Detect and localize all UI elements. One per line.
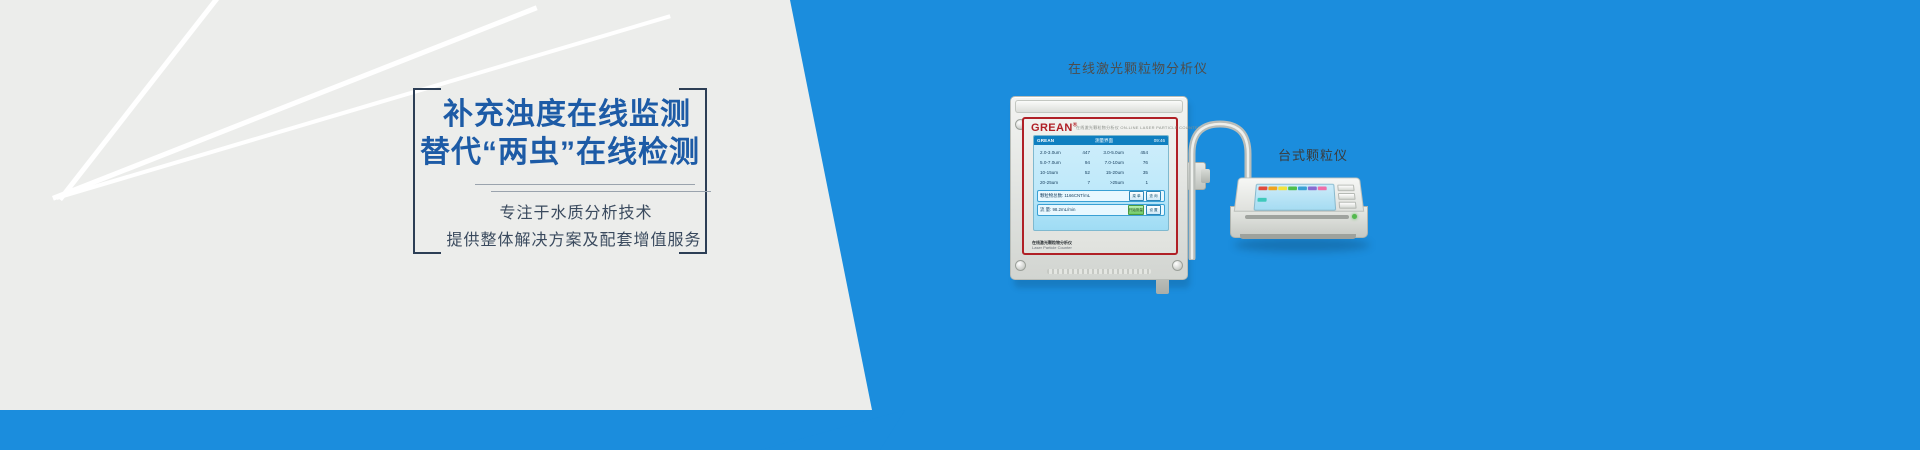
- brand-name: GREAN: [1031, 122, 1073, 134]
- analyzer-panel-caption: 在线激光颗粒物分析仪 Laser Particle Counter: [1032, 240, 1072, 250]
- headline-line-2: 替代“两虫”在线检测: [407, 134, 713, 172]
- cell-range-b: >25um: [1090, 178, 1126, 188]
- brand-subtext: 在线激光颗粒物分析仪 ON-LINE LASER PARTICLE COUNTE…: [1076, 125, 1201, 131]
- lcd-title-center: 测量界面: [1095, 138, 1113, 144]
- divider-line-top: [475, 184, 695, 185]
- lcd-title-bar: GREAN 测量界面 09:46: [1034, 136, 1168, 145]
- lcd-status-bar-total: 颗粒物总数: 1166CNT/mL 菜 单 查 询: [1037, 190, 1165, 202]
- cell-range-b: 15-20um: [1090, 168, 1126, 178]
- divider-group: [461, 184, 711, 192]
- divider-line-bottom: [491, 191, 711, 192]
- table-row: 2.0-3.0um 447 3.0-5.0um 454: [1037, 148, 1165, 158]
- benchtop-control-deck: [1234, 177, 1365, 211]
- analyzer-lcd-screen[interactable]: GREAN 测量界面 09:46 2.0-3.0um 447 3.0-5.0um…: [1033, 135, 1169, 231]
- cell-range-a: 20-25um: [1037, 178, 1070, 188]
- page-title: 补充浊度在线监测 替代“两虫”在线检测: [407, 96, 713, 172]
- analyzer-front-panel: GREAN® 在线激光颗粒物分析仪 ON-LINE LASER PARTICLE…: [1022, 117, 1178, 255]
- lcd-flow-rate-text: 流 量: 98.2mL/min: [1040, 207, 1075, 213]
- cell-value-b: 454: [1126, 148, 1150, 158]
- headline-block: 补充浊度在线监测 替代“两虫”在线检测 专注于水质分析技术 提供整体解决方案及配…: [413, 88, 707, 254]
- benchtop-key[interactable]: [1338, 193, 1356, 200]
- device-label-analyzer: 在线激光颗粒物分析仪: [1068, 58, 1208, 77]
- table-row: 20-25um 7 >25um 1: [1037, 178, 1165, 188]
- lcd-query-button[interactable]: 查 询: [1146, 191, 1161, 201]
- subtitle-line-2: 提供整体解决方案及配套增值服务: [421, 227, 713, 254]
- display-swatch: [1257, 197, 1266, 201]
- lcd-title-clock: 09:46: [1154, 138, 1165, 143]
- lcd-total-count-text: 颗粒物总数: 1166CNT/mL: [1040, 193, 1090, 199]
- display-swatch: [1278, 187, 1287, 191]
- display-swatch: [1288, 187, 1297, 191]
- cell-value-b: 35: [1126, 168, 1150, 178]
- cell-value-a: 7: [1070, 178, 1090, 188]
- brand-logo: GREAN®: [1031, 122, 1078, 134]
- display-swatch: [1268, 187, 1277, 191]
- cell-value-a: 447: [1070, 148, 1090, 158]
- analyzer-hinge-bottom-right: [1172, 260, 1183, 271]
- cell-range-b: 7.0-10um: [1090, 158, 1126, 168]
- lcd-button-group-2: 开始测量 设 置: [1128, 205, 1161, 215]
- promo-banner: 补充浊度在线监测 替代“两虫”在线检测 专注于水质分析技术 提供整体解决方案及配…: [0, 0, 1920, 450]
- display-swatch: [1318, 187, 1327, 191]
- subtitle-line-1: 专注于水质分析技术: [421, 200, 713, 227]
- display-swatch: [1308, 187, 1317, 191]
- cell-value-b: 76: [1126, 158, 1150, 168]
- lcd-status-bar-flow: 流 量: 98.2mL/min 开始测量 设 置: [1037, 204, 1165, 216]
- lcd-start-measure-button[interactable]: 开始测量: [1128, 205, 1144, 215]
- cell-range-a: 2.0-3.0um: [1037, 148, 1070, 158]
- lcd-button-group-1: 菜 单 查 询: [1129, 191, 1161, 201]
- analyzer-hinge-bottom-left: [1015, 260, 1026, 271]
- benchtop-key[interactable]: [1337, 185, 1354, 191]
- cell-value-a: 94: [1070, 158, 1090, 168]
- lcd-title-brand: GREAN: [1037, 138, 1054, 143]
- analyzer-vent: [1047, 269, 1151, 274]
- benchtop-keypad[interactable]: [1337, 185, 1356, 209]
- lcd-measurement-table: 2.0-3.0um 447 3.0-5.0um 454 5.0-7.0um 94…: [1034, 145, 1168, 188]
- subtitle-group: 专注于水质分析技术 提供整体解决方案及配套增值服务: [421, 200, 713, 254]
- power-led-icon: [1352, 214, 1357, 219]
- cell-range-a: 5.0-7.0um: [1037, 158, 1070, 168]
- device-label-benchtop: 台式颗粒仪: [1278, 145, 1348, 164]
- cell-value-a: 52: [1070, 168, 1090, 178]
- analyzer-caption-english: Laser Particle Counter: [1032, 245, 1072, 250]
- benchtop-key[interactable]: [1339, 202, 1357, 209]
- lcd-menu-button[interactable]: 菜 单: [1129, 191, 1144, 201]
- analyzer-enclosure: GREAN® 在线激光颗粒物分析仪 ON-LINE LASER PARTICLE…: [1010, 96, 1188, 280]
- headline-line-1: 补充浊度在线监测: [421, 96, 713, 134]
- benchtop-shadow: [1234, 238, 1370, 252]
- benchtop-display[interactable]: [1254, 184, 1337, 211]
- benchtop-feet: [1240, 234, 1356, 239]
- display-swatch: [1298, 187, 1307, 191]
- benchtop-slot: [1245, 215, 1349, 219]
- table-row: 5.0-7.0um 94 7.0-10um 76: [1037, 158, 1165, 168]
- lcd-settings-button[interactable]: 设 置: [1146, 205, 1161, 215]
- cell-value-b: 1: [1126, 178, 1150, 188]
- display-swatch: [1258, 187, 1267, 191]
- product-image-online-analyzer: GREAN® 在线激光颗粒物分析仪 ON-LINE LASER PARTICLE…: [1010, 96, 1190, 288]
- cell-range-a: 10-15um: [1037, 168, 1070, 178]
- analyzer-lid: [1015, 100, 1183, 113]
- cell-range-b: 3.0-5.0um: [1090, 148, 1126, 158]
- product-image-benchtop-counter: [1230, 176, 1370, 266]
- table-row: 10-15um 52 15-20um 35: [1037, 168, 1165, 178]
